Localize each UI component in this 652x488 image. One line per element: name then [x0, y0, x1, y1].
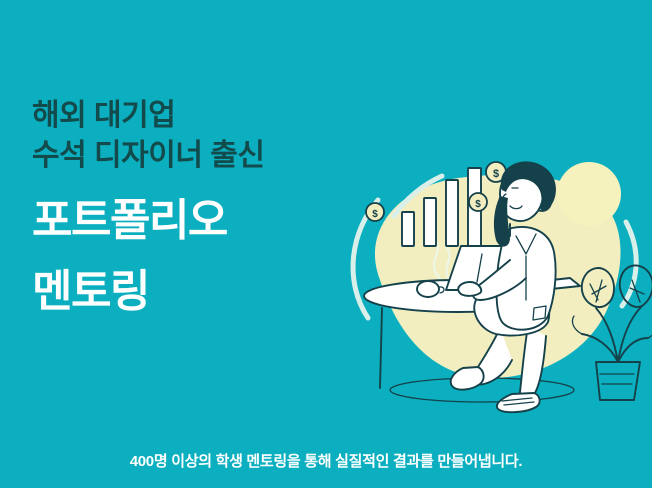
headline-sub-line-1: 해외 대기업 — [32, 96, 392, 136]
svg-text:$: $ — [475, 199, 481, 210]
headline-sub-line-2: 수석 디자이너 출신 — [32, 136, 392, 176]
coin-dollar-mid: $ — [469, 193, 487, 211]
headline-main-line-2: 멘토링 — [32, 265, 392, 319]
banner-caption: 400명 이상의 학생 멘토링을 통해 실질적인 결과를 만들어냅니다. — [0, 450, 652, 471]
svg-text:$: $ — [493, 168, 499, 180]
promo-banner: .ln{fill:none;stroke:#15414a;stroke-widt… — [0, 0, 652, 488]
headline-main-line-1: 포트폴리오 — [32, 194, 392, 248]
yellow-circle — [557, 162, 621, 226]
headline-block: 해외 대기업 수석 디자이너 출신 포트폴리오 멘토링 — [32, 96, 392, 319]
decorative-arc-right — [622, 222, 636, 306]
